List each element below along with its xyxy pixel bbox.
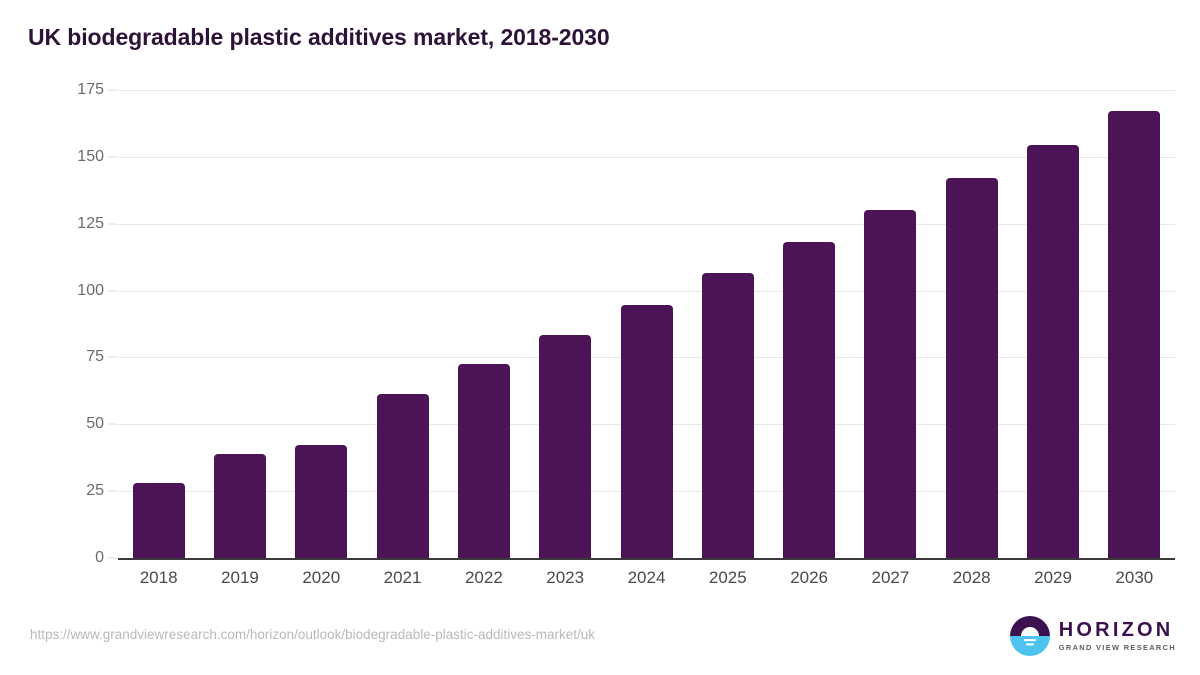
chart-page: UK biodegradable plastic additives marke…: [0, 0, 1200, 675]
x-axis-tick-label: 2027: [845, 568, 935, 588]
y-axis-tick-mark: [108, 424, 117, 425]
y-axis-tick-mark: [108, 156, 117, 157]
bar-2030[interactable]: [1108, 111, 1160, 558]
y-axis-tick-label: 75: [56, 348, 104, 366]
bar-2020[interactable]: [295, 445, 347, 558]
bar-2022[interactable]: [458, 364, 510, 558]
gridline: [118, 90, 1175, 91]
gridline: [118, 224, 1175, 225]
horizon-logo[interactable]: HORIZON GRAND VIEW RESEARCH: [1010, 616, 1176, 656]
bar-2018[interactable]: [133, 483, 185, 558]
bar-2027[interactable]: [864, 210, 916, 558]
y-axis-tick-mark: [108, 357, 117, 358]
x-axis-tick-label: 2029: [1008, 568, 1098, 588]
bar-2025[interactable]: [702, 273, 754, 558]
bar-2026[interactable]: [783, 242, 835, 558]
x-axis-tick-label: 2020: [276, 568, 366, 588]
x-axis-tick-label: 2018: [114, 568, 204, 588]
logo-text: HORIZON GRAND VIEW RESEARCH: [1059, 620, 1176, 651]
x-axis-tick-label: 2022: [439, 568, 529, 588]
x-axis-tick-label: 2024: [602, 568, 692, 588]
y-axis-tick-mark: [108, 90, 117, 91]
x-axis-tick-label: 2019: [195, 568, 285, 588]
x-axis-tick-label: 2025: [683, 568, 773, 588]
y-axis-tick-mark: [108, 558, 117, 559]
plot-area: [118, 90, 1175, 558]
x-axis-tick-label: 2028: [927, 568, 1017, 588]
x-axis-tick-label: 2030: [1089, 568, 1179, 588]
y-axis-tick-label: 175: [56, 81, 104, 99]
y-axis-tick-mark: [108, 223, 117, 224]
y-axis-tick-mark: [108, 290, 117, 291]
horizon-logo-icon: [1010, 616, 1050, 656]
logo-tagline: GRAND VIEW RESEARCH: [1059, 644, 1176, 651]
x-axis-tick-label: 2026: [764, 568, 854, 588]
y-axis-tick-label: 25: [56, 482, 104, 500]
gridline: [118, 157, 1175, 158]
x-axis-tick-label: 2023: [520, 568, 610, 588]
y-axis-tick-mark: [108, 491, 117, 492]
y-axis-tick-label: 125: [56, 215, 104, 233]
y-axis-tick-label: 100: [56, 282, 104, 300]
bar-2023[interactable]: [539, 335, 591, 558]
bar-2029[interactable]: [1027, 145, 1079, 558]
logo-wordmark: HORIZON: [1059, 620, 1176, 640]
bar-2024[interactable]: [621, 305, 673, 558]
bar-2028[interactable]: [946, 178, 998, 558]
y-axis-tick-label: 150: [56, 148, 104, 166]
x-axis-line: [118, 558, 1175, 560]
y-axis-tick-label: 50: [56, 415, 104, 433]
gridline: [118, 291, 1175, 292]
y-axis-tick-label: 0: [56, 549, 104, 567]
page-title: UK biodegradable plastic additives marke…: [28, 24, 610, 51]
bar-2021[interactable]: [377, 394, 429, 558]
source-url[interactable]: https://www.grandviewresearch.com/horizo…: [30, 627, 595, 642]
bar-2019[interactable]: [214, 454, 266, 558]
x-axis-tick-label: 2021: [358, 568, 448, 588]
